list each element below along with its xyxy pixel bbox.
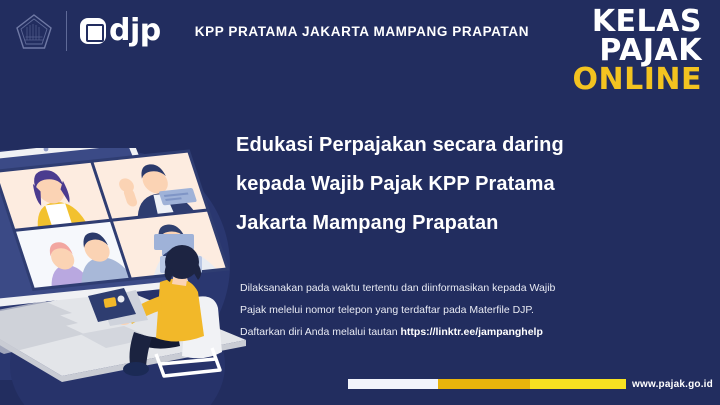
description-text: Dilaksanakan pada waktu tertentu dan dii… <box>240 277 640 343</box>
description-line-1: Dilaksanakan pada waktu tertentu dan dii… <box>240 277 640 299</box>
page-title: Edukasi Perpajakan secara daring kepada … <box>236 126 656 243</box>
headline-line-3: Jakarta Mampang Prapatan <box>236 204 656 243</box>
accent-progress-bar <box>348 379 626 389</box>
poster-canvas: djp KPP PRATAMA JAKARTA MAMPANG PRAPATAN… <box>0 0 720 405</box>
office-title: KPP PRATAMA JAKARTA MAMPANG PRAPATAN <box>195 24 529 39</box>
logo-divider <box>66 11 67 51</box>
badge-line-online: ONLINE <box>573 66 703 95</box>
djp-wordmark: djp <box>109 18 161 44</box>
kelas-pajak-online-badge: KELAS PAJAK ONLINE <box>573 8 703 94</box>
website-url[interactable]: www.pajak.go.id <box>632 379 713 390</box>
accent-segment-white <box>348 379 438 389</box>
description-line-2: Pajak melelui nomor telepon yang terdaft… <box>240 299 640 321</box>
registration-prefix: Daftarkan diri Anda melalui tautan <box>240 326 401 338</box>
djp-square-icon <box>80 18 106 44</box>
description-line-3: Daftarkan diri Anda melalui tautan https… <box>240 321 640 343</box>
headline-line-2: kepada Wajib Pajak KPP Pratama <box>236 165 656 204</box>
headline-line-1: Edukasi Perpajakan secara daring <box>236 126 656 165</box>
registration-link[interactable]: https://linktr.ee/jampanghelp <box>401 326 543 338</box>
accent-segment-amber <box>438 379 530 389</box>
ministry-emblem-icon <box>14 11 54 51</box>
accent-segment-yellow <box>530 379 626 389</box>
djp-logo: djp <box>80 18 161 44</box>
video-conference-illustration <box>0 148 246 388</box>
